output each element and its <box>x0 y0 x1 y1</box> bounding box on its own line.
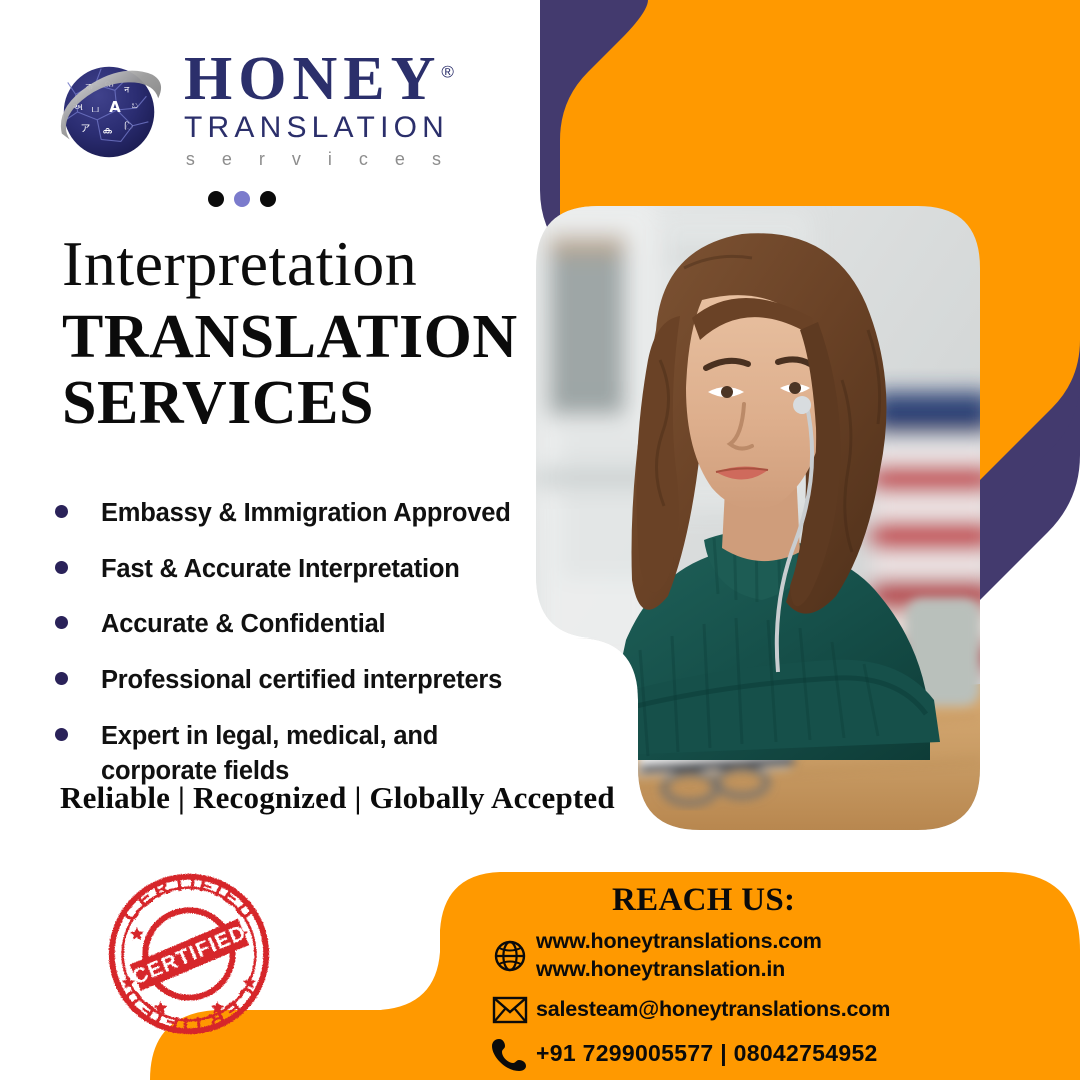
registered-mark: ® <box>441 62 454 81</box>
website-link-1[interactable]: www.honeytranslations.com <box>536 929 822 953</box>
bullet-dot-icon <box>55 728 68 741</box>
bullet-dot-icon <box>55 672 68 685</box>
hero-photo <box>536 200 992 840</box>
svg-text:િ: િ <box>124 121 133 132</box>
svg-text:ಬ: ಬ <box>132 101 138 111</box>
svg-text:ப: ப <box>91 102 99 115</box>
list-item: Accurate & Confidential <box>55 607 535 643</box>
purple-diagonal-shape <box>540 0 1080 764</box>
reach-us-heading: REACH US: <box>612 882 795 919</box>
bullet-dot-icon <box>55 561 68 574</box>
svg-text:CERTIFIED: CERTIFIED <box>118 872 260 926</box>
bullet-dot-icon <box>55 505 68 518</box>
list-item-label: Fast & Accurate Interpretation <box>101 552 460 588</box>
dot-divider <box>208 191 276 207</box>
contact-row-phone[interactable]: +91 7299005577 | 08042754952 <box>492 1037 1072 1071</box>
headline-bold-line-1: TRANSLATION <box>62 304 532 370</box>
brand-logo[interactable]: ক வ न અ ப A ಬ ア ക િ HONEY® TRANSLATION s… <box>52 46 454 173</box>
phone-numbers[interactable]: +91 7299005577 | 08042754952 <box>536 1039 878 1068</box>
website-link-2[interactable]: www.honeytranslation.in <box>536 957 785 981</box>
list-item-label: Professional certified interpreters <box>101 663 502 699</box>
dot-2 <box>234 191 250 207</box>
logo-services-text: s e r v i c e s <box>184 146 454 173</box>
list-item: Professional certified interpreters <box>55 663 535 699</box>
bullet-dot-icon <box>55 616 68 629</box>
contact-list: www.honeytranslations.com www.honeytrans… <box>492 928 1072 1080</box>
headline-script-line: Interpretation <box>62 232 532 296</box>
globe-logo-icon: ক வ न અ ப A ಬ ア ക િ <box>52 51 170 169</box>
list-item: Embassy & Immigration Approved <box>55 496 535 532</box>
contact-row-email[interactable]: salesteam@honeytranslations.com <box>492 995 1072 1025</box>
website-links[interactable]: www.honeytranslations.com www.honeytrans… <box>536 928 822 983</box>
logo-translation-text: TRANSLATION <box>184 109 454 147</box>
feature-list: Embassy & Immigration Approved Fast & Ac… <box>55 496 535 810</box>
orange-top-shape <box>560 0 1080 588</box>
svg-text:ア: ア <box>81 123 91 134</box>
svg-text:A: A <box>109 99 121 116</box>
email-link[interactable]: salesteam@honeytranslations.com <box>536 996 890 1024</box>
svg-text:ക: ക <box>102 125 112 136</box>
logo-honey-text: HONEY® <box>184 50 454 109</box>
phone-icon <box>492 1037 536 1071</box>
contact-row-website[interactable]: www.honeytranslations.com www.honeytrans… <box>492 928 1072 983</box>
globe-icon <box>492 938 536 974</box>
list-item-label: Embassy & Immigration Approved <box>101 496 511 532</box>
dot-1 <box>208 191 224 207</box>
tagline: Reliable | Recognized | Globally Accepte… <box>60 780 615 816</box>
list-item-label: Accurate & Confidential <box>101 607 385 643</box>
headline-bold-line-2: SERVICES <box>62 370 532 436</box>
envelope-icon <box>492 995 536 1025</box>
dot-3 <box>260 191 276 207</box>
certified-stamp-icon: CERTIFIED CERTIFIED CERTIFIED <box>105 870 273 1038</box>
headline-block: Interpretation TRANSLATION SERVICES <box>62 232 532 437</box>
poster-canvas: ক வ न અ ப A ಬ ア ക િ HONEY® TRANSLATION s… <box>0 0 1080 1080</box>
svg-text:CERTIFIED: CERTIFIED <box>118 982 260 1036</box>
list-item: Fast & Accurate Interpretation <box>55 552 535 588</box>
